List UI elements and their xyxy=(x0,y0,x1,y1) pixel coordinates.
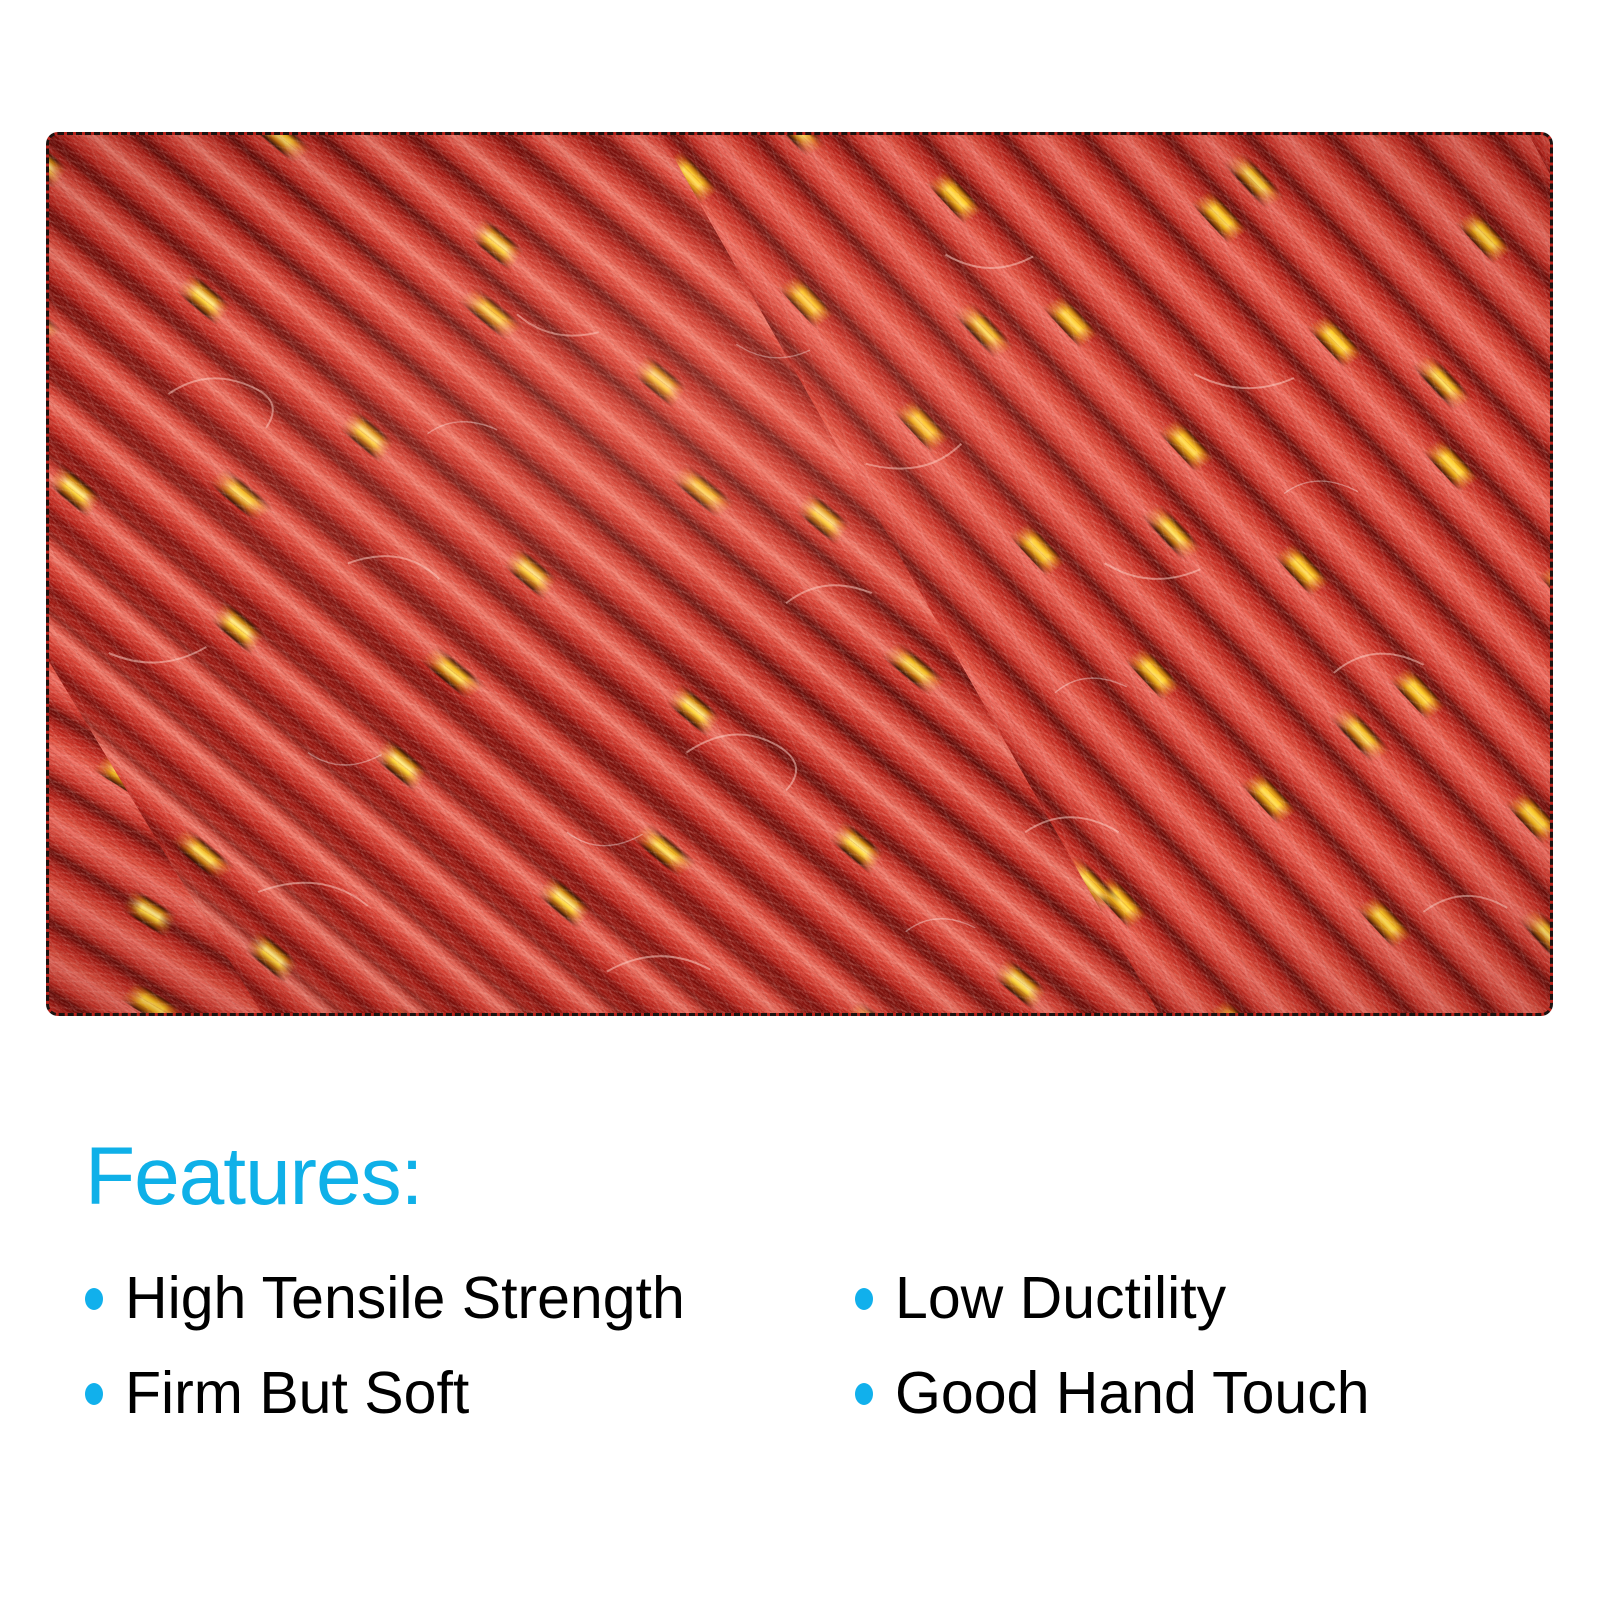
feature-item-firm-but-soft: Firm But Soft xyxy=(85,1363,855,1424)
bullet-icon xyxy=(855,1383,873,1405)
product-photo xyxy=(46,132,1553,1016)
feature-item-low-ductility: Low Ductility xyxy=(855,1268,1525,1329)
features-section: Features: High Tensile Strength Low Duct… xyxy=(85,1138,1525,1425)
feature-label: High Tensile Strength xyxy=(125,1268,685,1329)
feature-item-high-tensile-strength: High Tensile Strength xyxy=(85,1268,855,1329)
feature-label: Good Hand Touch xyxy=(895,1363,1370,1424)
stray-fibre-overlay xyxy=(49,135,1550,1013)
feature-label: Low Ductility xyxy=(895,1268,1226,1329)
feature-label: Firm But Soft xyxy=(125,1363,469,1424)
feature-item-good-hand-touch: Good Hand Touch xyxy=(855,1363,1525,1424)
product-photo-canvas xyxy=(49,135,1550,1013)
features-heading: Features: xyxy=(85,1138,1525,1216)
features-list: High Tensile Strength Low Ductility Firm… xyxy=(85,1268,1525,1425)
bullet-icon xyxy=(855,1288,873,1310)
bullet-icon xyxy=(85,1288,103,1310)
bullet-icon xyxy=(85,1383,103,1405)
